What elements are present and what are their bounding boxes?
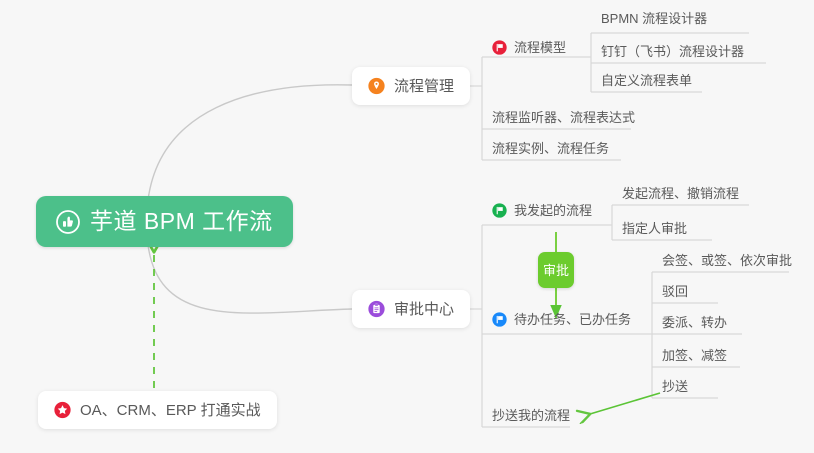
topic-label-assignee-approve: 指定人审批 [622,222,687,235]
topic-reject[interactable]: 驳回 [662,285,688,303]
topic-label-my-started-process: 我发起的流程 [514,204,592,217]
mindmap-canvas: 芋道 BPM 工作流 流程管理 审批中心 [0,0,814,453]
topic-label-countersign: 会签、或签、依次审批 [662,254,792,267]
clipboard-icon [368,301,385,318]
topic-process-listener[interactable]: 流程监听器、流程表达式 [492,111,635,129]
topic-cc[interactable]: 抄送 [662,380,688,398]
flag-icon [492,312,507,327]
topic-delegate-transfer[interactable]: 委派、转办 [662,316,727,334]
branch-label-approval-center: 审批中心 [394,302,454,317]
topic-label-bpmn-designer: BPMN 流程设计器 [601,12,707,25]
topic-label-process-model: 流程模型 [514,41,566,54]
callout-label-approval: 审批 [543,264,569,277]
footnote-label: OA、CRM、ERP 打通实战 [80,403,261,418]
topic-process-instance[interactable]: 流程实例、流程任务 [492,142,609,160]
annotation-arrow-cc-to-my-cc [590,393,660,414]
flag-icon [492,40,507,55]
topic-label-add-remove-sign: 加签、减签 [662,349,727,362]
topic-label-todo-done-tasks: 待办任务、已办任务 [514,313,631,326]
topic-label-dingtalk-designer: 钉钉（飞书）流程设计器 [601,45,744,58]
topic-custom-form[interactable]: 自定义流程表单 [601,74,692,92]
topic-label-custom-form: 自定义流程表单 [601,74,692,87]
branch-node-approval-center[interactable]: 审批中心 [352,290,470,328]
topic-process-model[interactable]: 流程模型 [492,40,566,60]
topic-bpmn-designer[interactable]: BPMN 流程设计器 [601,12,707,30]
root-node[interactable]: 芋道 BPM 工作流 [36,196,293,247]
branch-label-process-management: 流程管理 [394,79,454,94]
topic-cc-to-me[interactable]: 抄送我的流程 [492,409,570,427]
topic-label-process-listener: 流程监听器、流程表达式 [492,111,635,124]
topic-label-delegate-transfer: 委派、转办 [662,316,727,329]
topic-my-started-process[interactable]: 我发起的流程 [492,203,592,223]
topic-start-cancel-process[interactable]: 发起流程、撤销流程 [622,187,739,205]
topic-add-remove-sign[interactable]: 加签、减签 [662,349,727,367]
location-pin-icon [368,78,385,95]
topic-label-cc-to-me: 抄送我的流程 [492,409,570,422]
topic-countersign[interactable]: 会签、或签、依次审批 [662,254,792,272]
branch-node-process-management[interactable]: 流程管理 [352,67,470,105]
topic-label-process-instance: 流程实例、流程任务 [492,142,609,155]
flag-icon [492,203,507,218]
thumbs-up-icon [56,210,80,234]
topic-label-start-cancel-process: 发起流程、撤销流程 [622,187,739,200]
topic-label-cc: 抄送 [662,380,688,393]
footnote-node[interactable]: OA、CRM、ERP 打通实战 [38,391,277,429]
topic-label-reject: 驳回 [662,285,688,298]
topic-assignee-approve[interactable]: 指定人审批 [622,222,687,240]
topic-dingtalk-designer[interactable]: 钉钉（飞书）流程设计器 [601,45,744,63]
star-icon [54,402,71,419]
wire-root-to-process-management [148,85,352,200]
root-label: 芋道 BPM 工作流 [90,210,273,233]
wire-root-to-approval-center [148,245,352,313]
callout-approval[interactable]: 审批 [538,252,574,288]
topic-todo-done-tasks[interactable]: 待办任务、已办任务 [492,312,631,332]
